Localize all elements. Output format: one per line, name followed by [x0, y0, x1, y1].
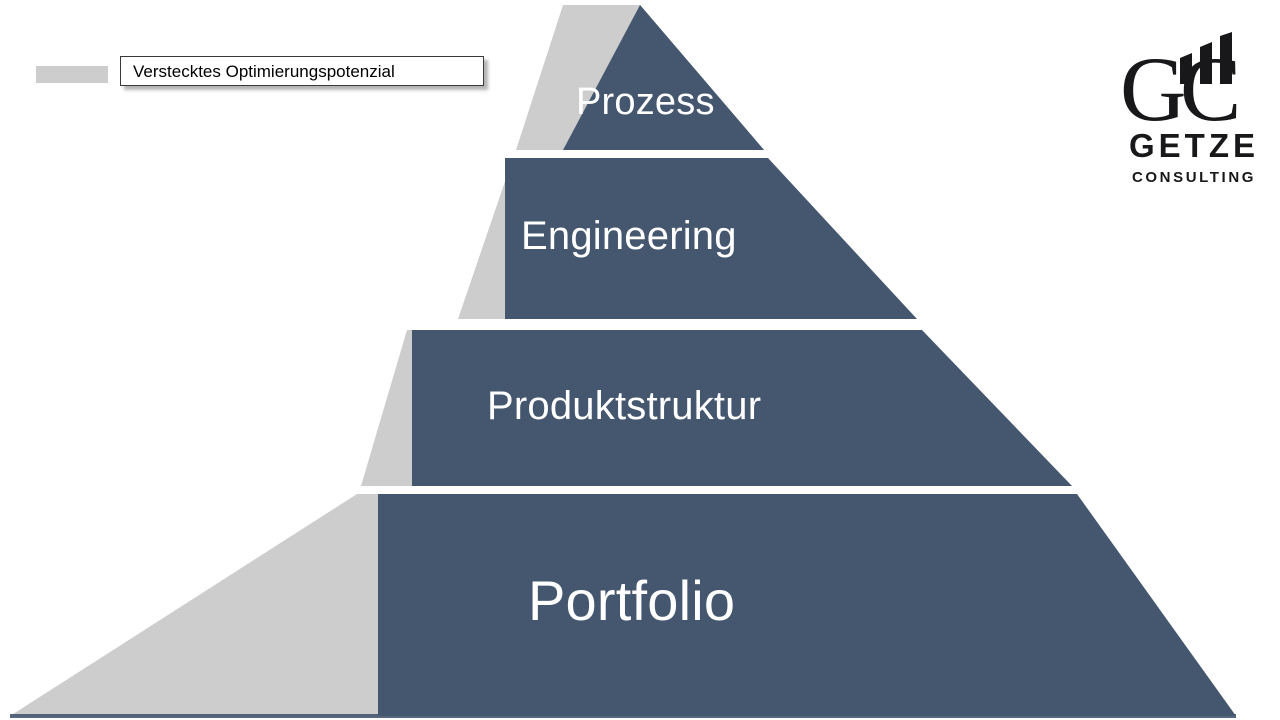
- tier-label-prozess: Prozess: [576, 83, 715, 121]
- pyramid-base-shadow: [10, 714, 1236, 718]
- tier-prozess-filled-right: [640, 5, 764, 150]
- logo-letter-c: C: [1180, 38, 1241, 136]
- company-logo: G C GETZE CONSULTING: [1118, 32, 1270, 192]
- legend-swatch-hidden-potential: [36, 66, 108, 83]
- tier-portfolio-hidden-area: [10, 494, 378, 716]
- logo-name: GETZE: [1118, 129, 1270, 162]
- tier-label-portfolio: Portfolio: [528, 573, 735, 629]
- pyramid-tier-prozess[interactable]: [516, 5, 764, 150]
- tier-portfolio-filled-area: [378, 494, 1236, 716]
- tier-label-produktstruktur: Produktstruktur: [487, 386, 761, 426]
- logo-letter-g: G: [1120, 38, 1186, 136]
- legend-callout-box[interactable]: Verstecktes Optimierungspotenzial: [120, 56, 484, 86]
- tier-label-engineering: Engineering: [521, 216, 737, 256]
- slide-canvas: Prozess Engineering Produktstruktur Port…: [0, 0, 1280, 720]
- logo-monogram-gc-icon: G C: [1118, 32, 1270, 136]
- logo-tagline: CONSULTING: [1118, 170, 1270, 185]
- legend-label: Verstecktes Optimierungspotenzial: [133, 62, 395, 82]
- legend: Verstecktes Optimierungspotenzial: [30, 52, 500, 96]
- tier-produktstruktur-hidden-area: [361, 330, 412, 486]
- tier-engineering-hidden-area: [458, 158, 513, 319]
